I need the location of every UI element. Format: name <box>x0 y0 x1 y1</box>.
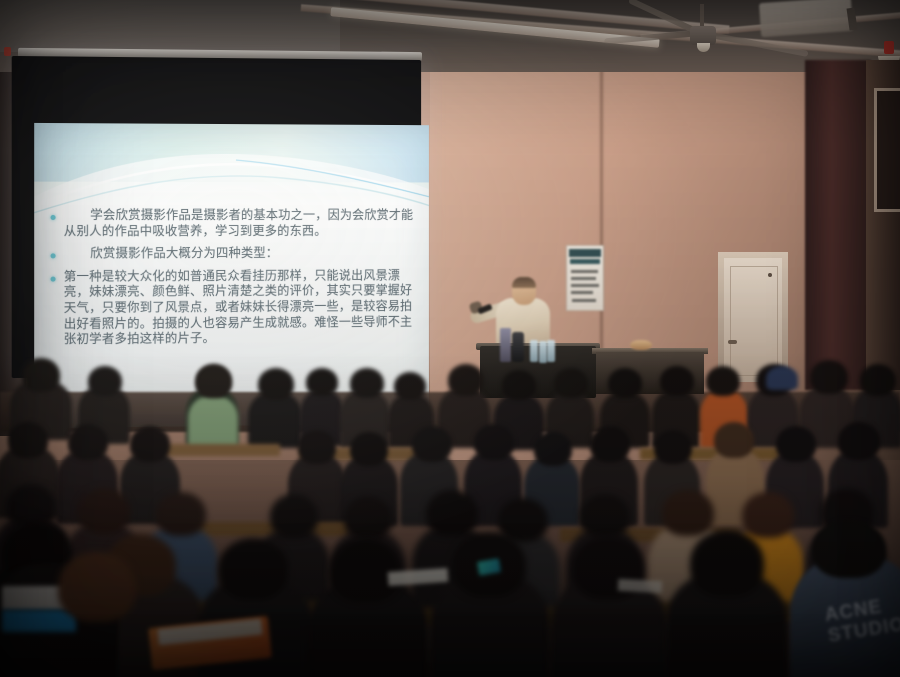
student-head <box>78 488 130 534</box>
student-head <box>22 358 60 392</box>
student-head <box>88 366 122 396</box>
student-head <box>706 366 740 396</box>
student-head <box>654 430 692 464</box>
door-latch-icon <box>768 273 772 277</box>
paper-sheet <box>618 579 663 593</box>
slide-bullet-text: 学会欣赏摄影作品是摄影者的基本功之一，因为会欣赏才能从别人的作品中吸收营养，学习… <box>64 208 417 239</box>
student-head <box>156 492 206 536</box>
student-audience: ACNE STUDIOS <box>0 352 900 677</box>
student-head <box>330 538 402 602</box>
sign-text-line <box>571 277 596 280</box>
student-head <box>662 490 714 536</box>
slide-bullet: 学会欣赏摄影作品是摄影者的基本功之一，因为会欣赏才能从别人的作品中吸收营养，学习… <box>51 208 418 240</box>
student-head <box>58 552 136 622</box>
slide-bullet: 第一种是较大众化的如普通民众看挂历那样，只能说出风景漂亮，妹妹漂亮、颜色鲜、照片… <box>51 268 418 348</box>
student-head <box>426 490 478 536</box>
indicator-light-icon <box>4 47 11 56</box>
sign-text-line <box>571 284 599 287</box>
student-head <box>344 496 392 540</box>
student-head <box>350 368 384 398</box>
door-handle-icon[interactable] <box>728 340 737 344</box>
fire-alarm-icon <box>884 41 894 54</box>
student-head <box>502 370 536 400</box>
bullet-dot-icon <box>51 215 56 220</box>
slide-bullet: 欣赏摄影作品大概分为四种类型： <box>51 246 418 262</box>
sign-text-line <box>571 270 598 273</box>
student-head <box>350 432 388 466</box>
student-head <box>580 494 630 538</box>
student-head <box>534 432 572 466</box>
bread-roll <box>630 340 652 350</box>
student-head <box>608 368 642 398</box>
student-head <box>590 426 630 462</box>
slide-bullet-text: 第一种是较大众化的如普通民众看挂历那样，只能说出风景漂亮，妹妹漂亮、颜色鲜、照片… <box>64 268 417 348</box>
wall-corner-shadow <box>600 40 603 370</box>
ceiling-slab-left <box>0 0 340 52</box>
sign-text-line <box>572 299 596 302</box>
student-head <box>258 368 294 400</box>
student-head <box>660 366 694 396</box>
student-head <box>860 364 896 396</box>
green-tshirt-student <box>188 396 238 448</box>
student-head <box>394 372 426 400</box>
graphic-tee-print-band <box>2 610 76 632</box>
slide-content: 学会欣赏摄影作品是摄影者的基本功之一，因为会欣赏才能从别人的作品中吸收营养，学习… <box>51 208 418 355</box>
student-head <box>8 422 48 458</box>
sign-header <box>569 249 601 257</box>
student-head <box>196 364 232 398</box>
student-head <box>412 426 452 462</box>
student-head <box>474 424 514 460</box>
lecture-hall-photo: 学会欣赏摄影作品是摄影者的基本功之一，因为会欣赏才能从别人的作品中吸收营养，学习… <box>0 0 900 677</box>
student-body <box>248 392 302 448</box>
navy-cap <box>766 366 798 390</box>
window-frame <box>874 88 900 212</box>
student-head <box>448 364 484 396</box>
ceiling-projector <box>759 0 853 37</box>
student-head <box>306 368 338 396</box>
student-head <box>68 424 108 460</box>
student-head <box>776 426 816 462</box>
student-head <box>838 422 880 460</box>
student-head <box>298 430 336 464</box>
sign-text-line <box>571 291 593 294</box>
lecturer-hair <box>512 277 536 288</box>
student-head <box>810 360 848 394</box>
window-curtain <box>805 60 871 390</box>
projection-screen-frame: 学会欣赏摄影作品是摄影者的基本功之一，因为会欣赏才能从别人的作品中吸收营养，学习… <box>12 56 421 378</box>
student-head <box>714 422 754 458</box>
bullet-dot-icon <box>51 276 56 281</box>
slide-bullet-text: 欣赏摄影作品大概分为四种类型： <box>64 246 278 262</box>
student-head <box>812 520 886 578</box>
student-head <box>130 426 170 462</box>
wall-notice-sign <box>566 245 604 311</box>
sign-subheader <box>570 259 600 264</box>
student-head <box>270 494 318 538</box>
student-head <box>742 492 794 538</box>
student-head <box>554 368 588 398</box>
bullet-dot-icon <box>51 254 56 259</box>
student-head <box>690 530 764 596</box>
student-head <box>218 538 288 600</box>
